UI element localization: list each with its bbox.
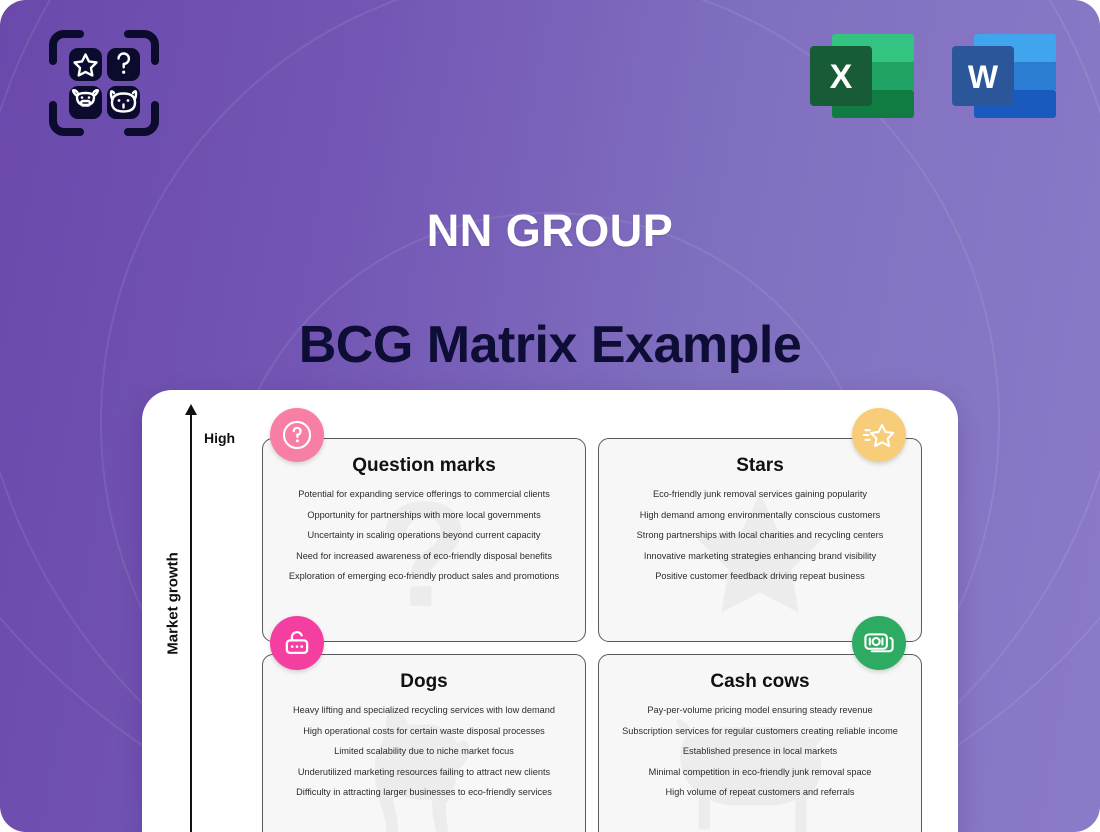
quadrant-title: Cash cows [710, 671, 809, 693]
quadrant-items: Pay-per-volume pricing model ensuring st… [599, 705, 921, 808]
list-item: Difficulty in attracting larger business… [271, 787, 577, 797]
quadrant-title: Dogs [400, 671, 448, 693]
quadrant-items: Eco-friendly junk removal services gaini… [599, 489, 921, 592]
list-item: Minimal competition in eco-friendly junk… [607, 767, 913, 777]
y-axis-title: Market growth [165, 539, 182, 669]
list-item: Innovative marketing strategies enhancin… [607, 551, 913, 561]
list-item: Strong partnerships with local charities… [607, 530, 913, 540]
badge-question-marks[interactable] [270, 408, 324, 462]
badge-cash-cows[interactable] [852, 616, 906, 670]
quadrant-title: Question marks [352, 455, 496, 477]
y-axis-line [190, 412, 192, 832]
list-item: High demand among environmentally consci… [607, 510, 913, 520]
list-item: Subscription services for regular custom… [607, 726, 913, 736]
list-item: Underutilized marketing resources failin… [271, 767, 577, 777]
question-mark-badge-icon [280, 418, 314, 452]
money-badge-icon [862, 626, 896, 660]
word-icon[interactable]: W [952, 26, 1056, 131]
list-item: Established presence in local markets [607, 746, 913, 756]
bcg-matrix-card: High Market growth ? Question marks Pote… [142, 390, 958, 832]
list-item: Uncertainty in scaling operations beyond… [271, 530, 577, 540]
app-logo[interactable] [46, 27, 162, 139]
list-item: Limited scalability due to niche market … [271, 746, 577, 756]
quadrant-title: Stars [736, 455, 784, 477]
list-item: Positive customer feedback driving repea… [607, 571, 913, 581]
badge-stars[interactable] [852, 408, 906, 462]
brand-title: NN GROUP [0, 205, 1100, 257]
quadrant-items: Heavy lifting and specialized recycling … [263, 705, 585, 808]
badge-dogs[interactable] [270, 616, 324, 670]
list-item: High volume of repeat customers and refe… [607, 787, 913, 797]
quadrant-question-marks[interactable]: ? Question marks Potential for expanding… [262, 438, 586, 642]
list-item: Eco-friendly junk removal services gaini… [607, 489, 913, 499]
list-item: Potential for expanding service offering… [271, 489, 577, 499]
logo-frame-icon [46, 27, 162, 139]
quadrant-cash-cows[interactable]: Cash cows Pay-per-volume pricing model e… [598, 654, 922, 832]
star-badge-icon [861, 417, 897, 453]
padlock-badge-icon [281, 627, 313, 659]
svg-text:W: W [968, 59, 999, 95]
quadrant-dogs[interactable]: Dogs Heavy lifting and specialized recyc… [262, 654, 586, 832]
list-item: Need for increased awareness of eco-frie… [271, 551, 577, 561]
list-item: Exploration of emerging eco-friendly pro… [271, 571, 577, 581]
list-item: High operational costs for certain waste… [271, 726, 577, 736]
y-axis-high-label: High [204, 430, 235, 446]
quadrant-stars[interactable]: Stars Eco-friendly junk removal services… [598, 438, 922, 642]
svg-text:X: X [830, 58, 853, 96]
quadrant-items: Potential for expanding service offering… [263, 489, 585, 592]
list-item: Pay-per-volume pricing model ensuring st… [607, 705, 913, 715]
office-icons: X W [810, 26, 1056, 131]
page-title: BCG Matrix Example [0, 315, 1100, 375]
slide-canvas: X W NN GROUP BCG Matrix Example High Mar… [0, 0, 1100, 832]
quadrant-grid: ? Question marks Potential for expanding… [262, 438, 922, 832]
list-item: Opportunity for partnerships with more l… [271, 510, 577, 520]
excel-icon[interactable]: X [810, 26, 914, 131]
list-item: Heavy lifting and specialized recycling … [271, 705, 577, 715]
